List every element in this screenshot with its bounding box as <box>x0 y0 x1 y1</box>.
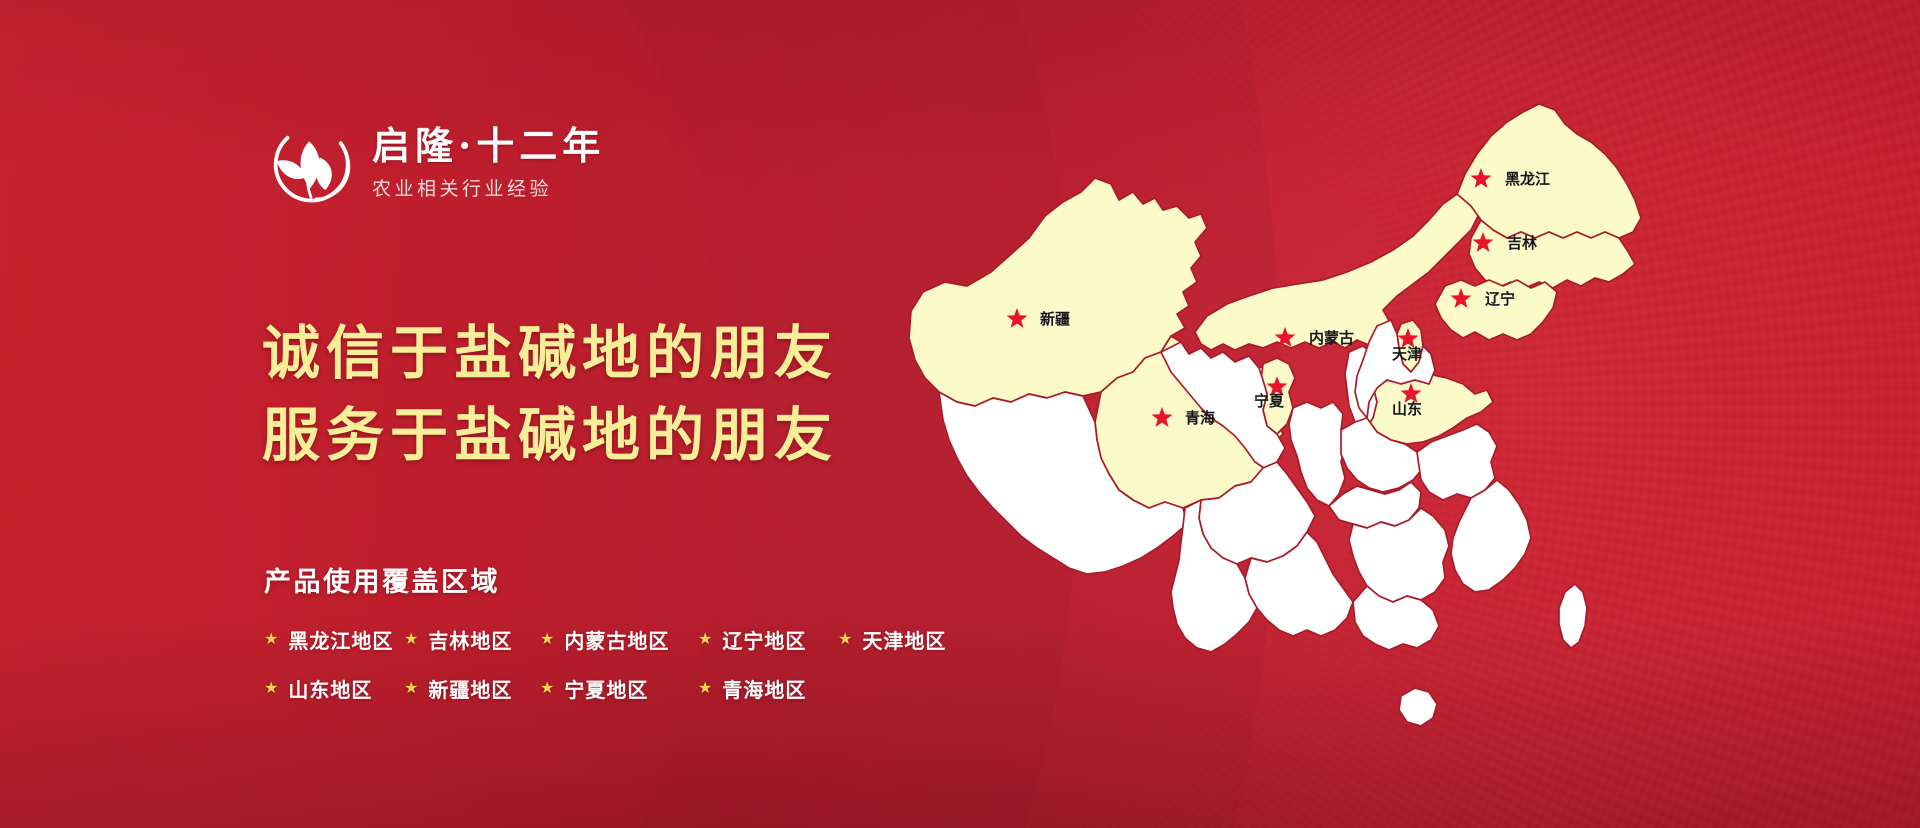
leaf-circle-emblem-icon <box>266 118 356 208</box>
promo-banner: 启隆·十二年 农业相关行业经验 诚信于盐碱地的朋友 服务于盐碱地的朋友 产品使用… <box>0 0 1920 828</box>
coverage-region-item[interactable]: ★天津地区 <box>838 625 946 654</box>
coverage-region-item[interactable]: ★宁夏地区 <box>540 674 698 703</box>
coverage-region-item[interactable]: ★辽宁地区 <box>698 625 838 654</box>
map-province-label: 宁夏 <box>1254 392 1285 410</box>
china-coverage-map: 黑龙江吉林辽宁天津山东内蒙古宁夏新疆青海 <box>905 96 1695 756</box>
coverage-region-label: 辽宁地区 <box>722 625 806 654</box>
coverage-region-label: 宁夏地区 <box>564 674 648 703</box>
map-province-label: 辽宁 <box>1485 290 1515 308</box>
coverage-region-item[interactable]: ★黑龙江地区 <box>264 625 404 654</box>
star-icon: ★ <box>404 632 418 648</box>
headline-block: 诚信于盐碱地的朋友 服务于盐碱地的朋友 <box>262 312 838 477</box>
brand-logo-text: 启隆·十二年 农业相关行业经验 <box>372 125 605 202</box>
map-province-label: 山东 <box>1392 400 1422 418</box>
star-icon: ★ <box>698 681 712 697</box>
coverage-region-item[interactable]: ★新疆地区 <box>404 674 540 703</box>
star-icon: ★ <box>540 681 554 697</box>
brand-subtitle: 农业相关行业经验 <box>372 174 605 201</box>
brand-title: 启隆·十二年 <box>372 125 605 168</box>
star-icon: ★ <box>838 632 852 648</box>
star-icon: ★ <box>698 632 712 648</box>
map-province-label: 吉林 <box>1507 234 1538 252</box>
coverage-region-label: 新疆地区 <box>428 674 512 703</box>
coverage-region-label: 吉林地区 <box>428 625 512 654</box>
star-icon: ★ <box>540 632 554 648</box>
coverage-section: 产品使用覆盖区域 ★黑龙江地区★吉林地区★内蒙古地区★辽宁地区★天津地区★山东地… <box>264 560 946 703</box>
province-zhejiang-fujian <box>1451 480 1531 592</box>
left-content-column: 启隆·十二年 农业相关行业经验 诚信于盐碱地的朋友 服务于盐碱地的朋友 产品使用… <box>258 0 1018 828</box>
headline-line-2: 服务于盐碱地的朋友 <box>262 394 838 476</box>
coverage-region-label: 山东地区 <box>288 674 372 703</box>
province-liaoning <box>1435 280 1557 340</box>
brand-logo: 启隆·十二年 农业相关行业经验 <box>266 118 605 208</box>
province-taiwan <box>1559 584 1587 648</box>
map-province-label: 天津 <box>1392 345 1422 363</box>
coverage-region-list: ★黑龙江地区★吉林地区★内蒙古地区★辽宁地区★天津地区★山东地区★新疆地区★宁夏… <box>264 625 946 703</box>
coverage-region-label: 青海地区 <box>722 674 806 703</box>
star-icon: ★ <box>264 632 278 648</box>
coverage-region-item[interactable]: ★青海地区 <box>698 674 838 703</box>
map-province-label: 青海 <box>1185 409 1215 427</box>
star-icon: ★ <box>264 681 278 697</box>
map-province-label: 内蒙古 <box>1309 329 1354 347</box>
coverage-region-item[interactable]: ★吉林地区 <box>404 625 540 654</box>
map-province-label: 新疆 <box>1040 310 1070 328</box>
coverage-title: 产品使用覆盖区域 <box>264 560 946 599</box>
china-map-svg: 黑龙江吉林辽宁天津山东内蒙古宁夏新疆青海 <box>905 96 1695 756</box>
star-icon: ★ <box>404 681 418 697</box>
coverage-region-label: 内蒙古地区 <box>564 625 669 654</box>
province-hainan <box>1399 688 1437 726</box>
map-province-label: 黑龙江 <box>1505 170 1550 188</box>
coverage-region-label: 天津地区 <box>862 625 946 654</box>
coverage-region-item[interactable]: ★山东地区 <box>264 674 404 703</box>
province-inner-mongolia <box>1195 194 1479 350</box>
headline-line-1: 诚信于盐碱地的朋友 <box>262 312 838 394</box>
coverage-region-item[interactable]: ★内蒙古地区 <box>540 625 698 654</box>
coverage-region-label: 黑龙江地区 <box>288 625 393 654</box>
